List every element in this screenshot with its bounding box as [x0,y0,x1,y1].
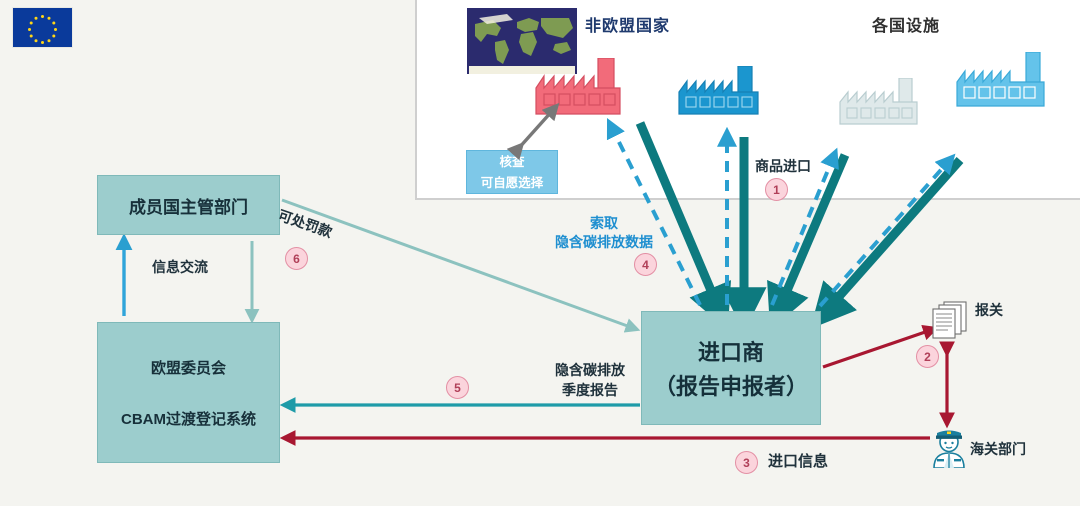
step-badge-2: 2 [916,345,939,368]
label-information-exchange: 信息交流 [152,257,208,277]
label-goods-import: 商品进口 [755,156,811,176]
box-member-state-authority[interactable]: 成员国主管部门 [97,175,280,235]
box-eu-commission[interactable]: 欧盟委员会 CBAM过渡登记系统 [97,322,280,463]
customs-officer-icon [930,426,968,468]
label-request-line-1: 索取 [524,214,684,233]
diagram-canvas: 非欧盟国家 各国设施 核查 可自愿选择 [0,0,1080,506]
arrow-data-request-4 [820,162,948,306]
step-badge-3: 3 [735,451,758,474]
arrow-verification-double [518,110,553,149]
label-quarterly-line-1: 隐含碳排放 [535,360,645,380]
importer-line-2: （报告申报者） [654,369,808,401]
commission-line-2: CBAM过渡登记系统 [121,408,256,429]
box-member-state-label: 成员国主管部门 [129,193,248,218]
arrow-customs-declaration [823,330,931,367]
step-badge-1: 1 [765,178,788,201]
label-quarterly-report: 隐含碳排放 季度报告 [535,360,645,400]
commission-line-1: 欧盟委员会 [151,357,226,378]
label-quarterly-line-2: 季度报告 [535,380,645,400]
importer-line-1: 进口商 [698,335,764,367]
label-request-embedded-carbon: 索取 隐含碳排放数据 [524,214,684,252]
arrow-goods-import-3 [780,155,845,307]
label-customs-declaration: 报关 [975,300,1003,320]
label-import-information: 进口信息 [768,450,828,471]
label-customs-department: 海关部门 [970,439,1026,459]
box-importer[interactable]: 进口商 （报告申报者） [641,311,821,425]
arrow-goods-import-4 [827,160,960,310]
step-badge-5: 5 [446,376,469,399]
documents-icon [932,301,968,341]
step-badge-6: 6 [285,247,308,270]
label-request-line-2: 隐含碳排放数据 [524,233,684,252]
step-badge-4: 4 [634,253,657,276]
